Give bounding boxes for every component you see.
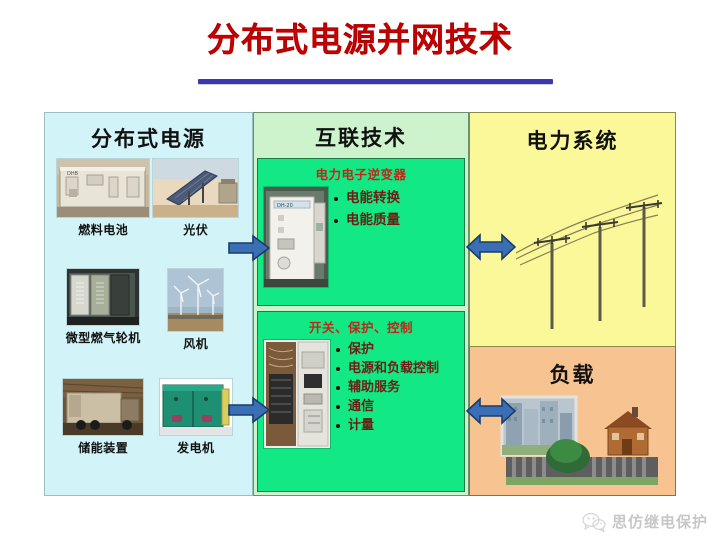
page-title: 分布式电源并网技术 — [0, 22, 720, 58]
source-item-storage: 储能装置 — [57, 379, 150, 489]
source-image-grid: DHB 燃料电池 — [45, 153, 252, 495]
bullet-item: 电能质量 — [332, 214, 400, 228]
arrow-interconnect-to-load — [466, 396, 516, 426]
panel-interconnection-tech: 互联技术 电力电子逆变器 DH-20 — [253, 112, 469, 496]
panel-heading-power-system: 电力系统 — [470, 113, 675, 155]
bullet-item: 电源和负载控制 — [334, 362, 439, 375]
group-title-switchgear: 开关、保护、控制 — [258, 312, 464, 338]
transmission-poles-illustration — [508, 181, 668, 331]
bullet-list-switchgear: 保护 电源和负载控制 辅助服务 通信 计量 — [334, 340, 439, 438]
switchgear-protection-panel-photo — [264, 340, 330, 448]
source-item-fuel-cell: DHB 燃料电池 — [57, 159, 150, 269]
panel-power-system: 电力系统 — [469, 112, 676, 347]
bullet-list-inverter: 电能转换 电能质量 — [332, 187, 400, 235]
green-generator-photo — [160, 379, 232, 435]
arrow-sources-to-interconnect-top — [228, 234, 270, 262]
bullet-item: 辅助服务 — [334, 381, 439, 394]
wind-turbines-photo — [168, 269, 223, 331]
source-label-storage: 储能装置 — [78, 439, 128, 456]
panel-heading-interconnection: 互联技术 — [254, 113, 468, 158]
watermark-text: 思仿继电保护 — [612, 511, 708, 532]
svg-text:DHB: DHB — [67, 171, 79, 177]
panel-heading-load: 负载 — [470, 347, 675, 389]
title-area: 分布式电源并网技术 — [0, 22, 720, 58]
arrow-sources-to-interconnect-bottom — [228, 396, 270, 424]
panel-distributed-sources: 分布式电源 DHB 燃料电池 — [44, 112, 253, 496]
panel-heading-distributed-sources: 分布式电源 — [45, 113, 252, 153]
micro-gas-turbine-photo — [67, 269, 139, 325]
arrow-interconnect-to-grid — [466, 232, 516, 262]
energy-storage-trailer-photo — [63, 379, 143, 435]
group-power-electronic-inverter: 电力电子逆变器 DH-20 电能转换 — [257, 158, 465, 306]
svg-text:DH-20: DH-20 — [277, 203, 293, 209]
title-underline-rule — [198, 79, 553, 84]
group-title-inverter: 电力电子逆变器 — [258, 159, 464, 185]
watermark: 思仿继电保护 — [582, 511, 708, 532]
source-label-solar: 光伏 — [183, 221, 208, 238]
fuel-cell-container-photo: DHB — [57, 159, 149, 217]
group-switch-protection-control: 开关、保护、控制 — [257, 311, 465, 492]
source-label-fuel-cell: 燃料电池 — [78, 221, 128, 238]
house-shape — [604, 407, 652, 455]
right-column: 电力系统 — [469, 112, 676, 496]
bullet-item: 通信 — [334, 400, 439, 413]
source-item-micro-turbine: 微型燃气轮机 — [57, 269, 150, 379]
source-item-wind: 风机 — [150, 269, 243, 379]
bullet-item: 保护 — [334, 343, 439, 356]
solar-panel-array-photo — [153, 159, 238, 217]
bullet-item: 电能转换 — [332, 192, 400, 206]
diagram-container: 分布式电源 DHB 燃料电池 — [44, 112, 676, 496]
inverter-cabinet-photo: DH-20 — [264, 187, 328, 287]
source-label-wind: 风机 — [183, 335, 208, 352]
source-label-micro-turbine: 微型燃气轮机 — [66, 329, 141, 346]
bullet-item: 计量 — [334, 419, 439, 432]
source-label-generator: 发电机 — [177, 439, 215, 456]
buildings-and-house-illustration — [496, 395, 666, 491]
wechat-bubble-icon — [582, 512, 606, 532]
